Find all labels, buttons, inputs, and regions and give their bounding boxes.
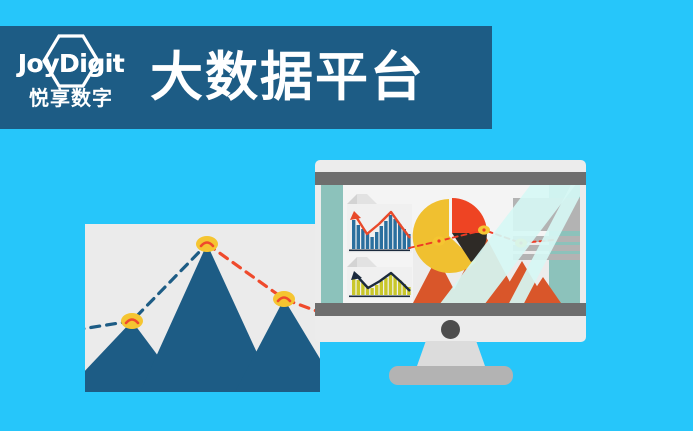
data-marker	[196, 236, 218, 252]
data-marker	[121, 313, 143, 329]
illustration-canvas: JoyDigit 悦享数字 大数据平台	[0, 0, 693, 431]
logo-subtitle: 悦享数字	[29, 88, 113, 108]
monitor-power-indicator[interactable]	[441, 320, 460, 339]
monitor-screen	[321, 185, 580, 303]
monitor-stand	[417, 341, 485, 366]
desktop-monitor	[315, 160, 586, 342]
mountain-trend-svg	[85, 224, 320, 392]
monitor-bezel-top	[315, 172, 586, 185]
monitor-bezel-bottom	[315, 303, 586, 316]
brand-logo: JoyDigit 悦享数字	[10, 29, 132, 127]
page-title: 大数据平台	[150, 51, 425, 104]
header-banner: JoyDigit 悦享数字 大数据平台	[0, 26, 492, 129]
monitor-stand-base	[389, 366, 513, 385]
data-marker	[273, 291, 295, 307]
dashboard-svg	[321, 185, 580, 303]
blue-bar-chart-card	[347, 194, 412, 253]
yellow-bar-chart-card	[347, 257, 412, 298]
mountain-trend-panel	[85, 224, 320, 392]
logo-wordmark: JoyDigit	[18, 51, 125, 76]
